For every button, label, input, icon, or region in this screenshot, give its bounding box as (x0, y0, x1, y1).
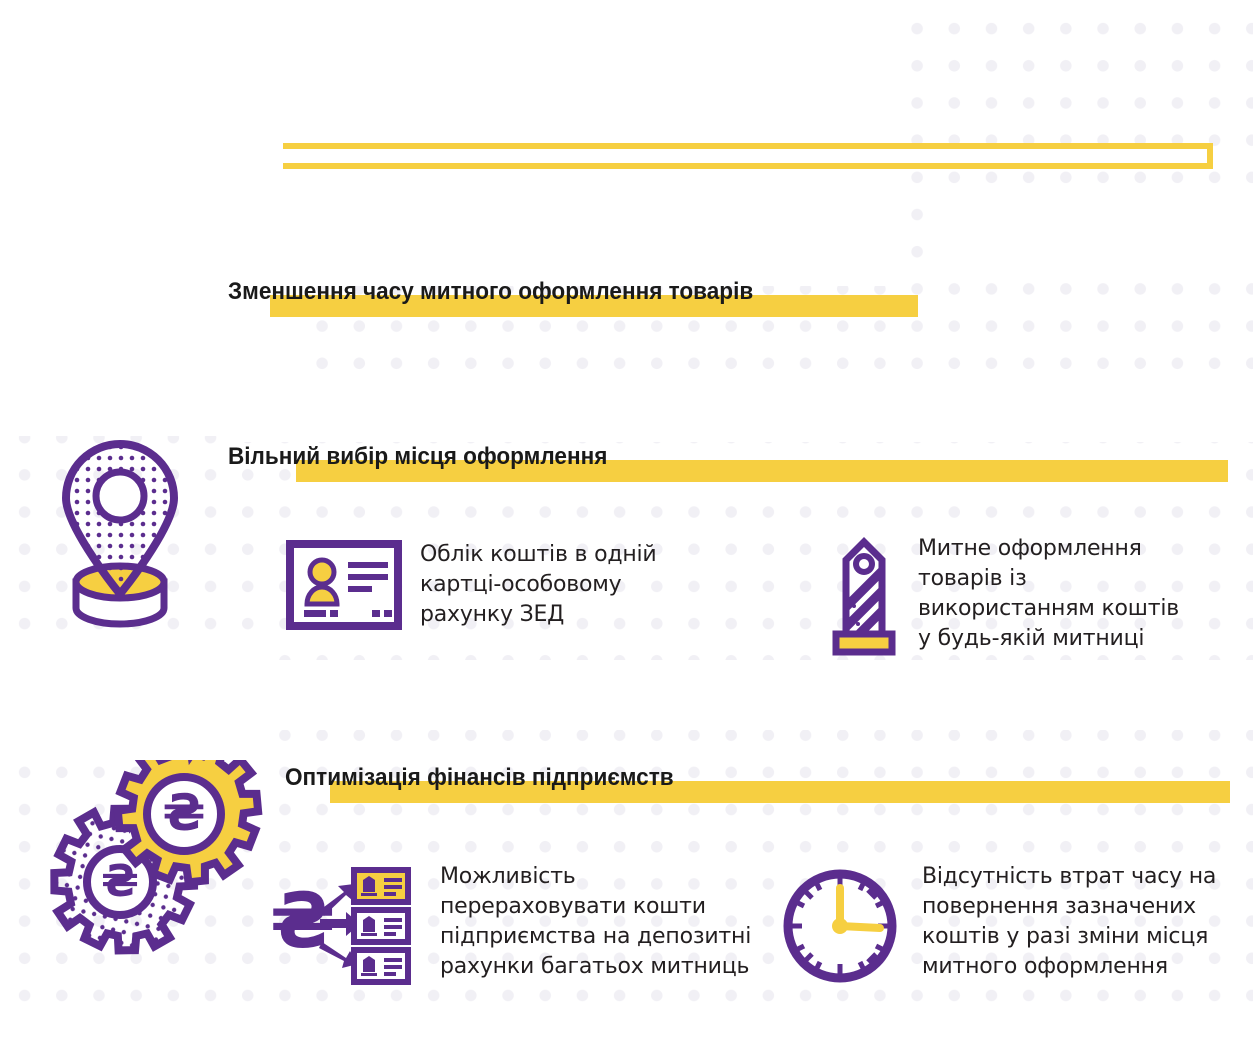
id-card-icon (286, 540, 402, 630)
map-pin-icon (40, 432, 200, 632)
background-mask (0, 640, 270, 760)
sub-item: Облік коштів в одній картці-особовому ра… (286, 540, 686, 630)
title-yellow-bracket (283, 143, 1213, 169)
hryvnia-transfer-to-banks-icon: ₴ (268, 862, 418, 987)
section-heading-1: Зменшення часу митного оформлення товарі… (228, 278, 908, 306)
svg-text:₴: ₴ (163, 784, 206, 842)
section-heading-3: Оптимізація фінансів підприємств (285, 764, 1230, 792)
background-mask (300, 196, 905, 286)
sub-item: ₴ (268, 862, 758, 987)
clock-icon (776, 862, 904, 990)
sub-item-text: Облік коштів в одній картці-особовому ра… (420, 540, 686, 630)
background-mask (930, 196, 1253, 260)
sub-item-text: Відсутність втрат часу на повернення заз… (922, 862, 1242, 982)
border-post-icon (828, 534, 900, 658)
sub-item-text: Можливість перераховувати кошти підприєм… (440, 862, 758, 982)
sub-item: Відсутність втрат часу на повернення заз… (776, 862, 1246, 990)
background-mask (0, 1010, 1253, 1051)
background-mask (228, 424, 1253, 442)
section-heading-2: Вільний вибір місця оформлення (228, 443, 1228, 471)
infographic-page: ПЕРЕВАГИ «ЄДИНОГО РАХУНКУ» ДЛЯ БІЗНЕСУ (0, 0, 1253, 1051)
sub-item-text: Митне оформлення товарів із використання… (918, 534, 1208, 654)
sub-item: Митне оформлення товарів із використання… (828, 534, 1228, 658)
